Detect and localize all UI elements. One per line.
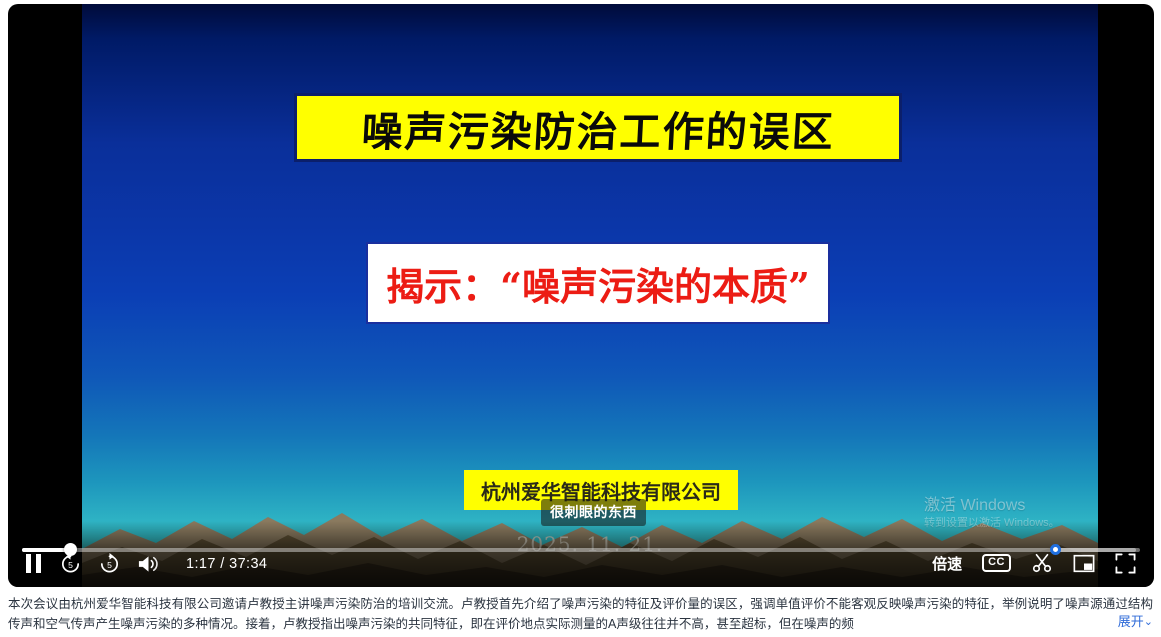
description-text: 本次会议由杭州爱华智能科技有限公司邀请卢教授主讲噪声污染防治的培训交流。卢教授首… — [8, 594, 1153, 634]
video-description: 本次会议由杭州爱华智能科技有限公司邀请卢教授主讲噪声污染防治的培训交流。卢教授首… — [0, 594, 1161, 637]
video-player[interactable]: 噪声污染防治工作的误区 揭示：“噪声污染的本质” 杭州爱华智能科技有限公司 20… — [8, 4, 1154, 587]
svg-text:5: 5 — [107, 560, 112, 570]
slide-subtitle-box: 揭示：“噪声污染的本质” — [366, 242, 830, 324]
playback-speed-button[interactable]: 倍速 — [932, 553, 962, 574]
expand-label: 展开 — [1118, 614, 1144, 629]
volume-icon — [137, 554, 160, 574]
scissors-icon — [1031, 552, 1053, 574]
svg-text:5: 5 — [68, 560, 73, 570]
time-display: 1:17 / 37:34 — [186, 556, 267, 572]
pip-icon — [1073, 554, 1095, 573]
rewind-5-icon: 5 — [59, 552, 82, 575]
picture-in-picture-button[interactable] — [1073, 554, 1095, 573]
fullscreen-button[interactable] — [1115, 553, 1136, 574]
forward-5-icon: 5 — [98, 552, 121, 575]
clip-button[interactable] — [1031, 552, 1053, 574]
cc-icon: CC — [982, 554, 1011, 572]
volume-button[interactable] — [137, 554, 160, 574]
expand-description-button[interactable]: 展开⌄ — [1104, 612, 1153, 633]
pause-icon — [24, 553, 43, 574]
windows-activation-title: 激活 Windows — [924, 496, 1060, 516]
pause-button[interactable] — [24, 553, 43, 574]
player-controls-bar[interactable]: 爱华智能在共享屏幕 5 5 — [8, 521, 1154, 587]
forward-5-button[interactable]: 5 — [98, 552, 121, 575]
rewind-5-button[interactable]: 5 — [59, 552, 82, 575]
chevron-down-icon: ⌄ — [1144, 612, 1153, 632]
fullscreen-icon — [1115, 553, 1136, 574]
left-controls-group: 5 5 1:17 / 37:34 — [24, 552, 267, 575]
right-controls-group: 倍速 CC — [932, 552, 1136, 574]
page-title: 噪声污染防治工作的误区 — [360, 98, 836, 158]
slide-title-banner: 噪声污染防治工作的误区 — [294, 93, 902, 162]
captions-button[interactable]: CC — [982, 554, 1011, 572]
slide-subtitle: 揭示：“噪声污染的本质” — [386, 256, 810, 311]
